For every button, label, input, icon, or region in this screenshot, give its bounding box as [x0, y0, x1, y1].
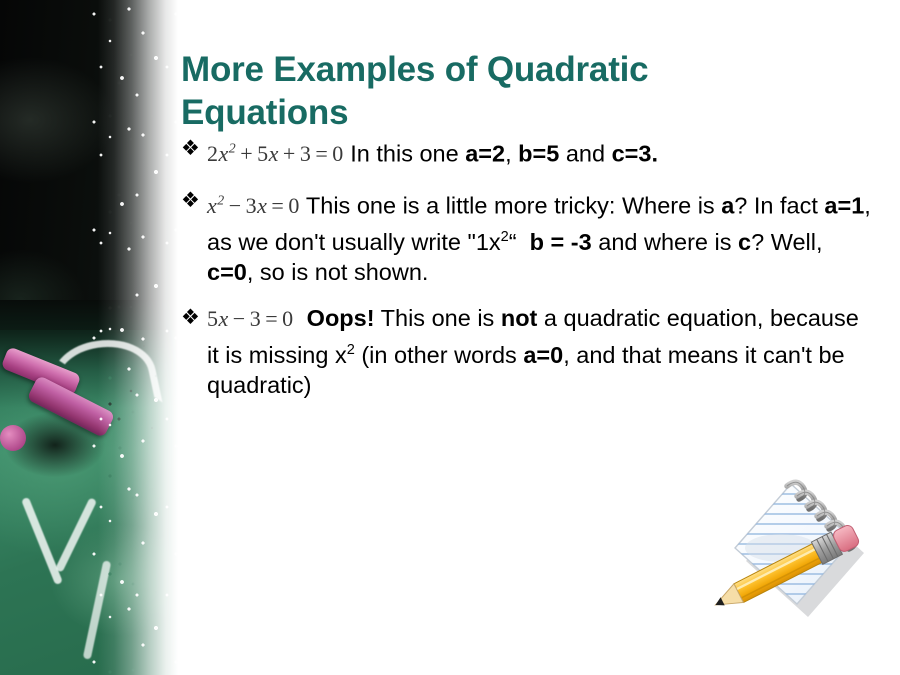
slide-canvas: More Examples of Quadratic Equations ❖ 2…: [0, 0, 900, 675]
bullet-2-content: x2−3x=0 This one is a little more tricky…: [207, 186, 871, 288]
bullet-2-c-value: c=0: [207, 259, 247, 285]
bullet-2-a-value: a=1: [824, 192, 864, 218]
bullet-1-text-2: ,: [505, 140, 518, 166]
bullet-1-content: 2x2+5x+3=0 In this one a=2, b=5 and c=3.: [207, 134, 871, 170]
page-title: More Examples of Quadratic Equations: [181, 48, 781, 134]
bullet-2-a-label: a: [721, 192, 734, 218]
bullet-3-oops: Oops!: [307, 305, 375, 331]
bullet-2-text-7: , so is not shown.: [247, 259, 429, 285]
notepad-pencil-clipart: [663, 470, 878, 650]
bullet-1-c-value: c=3.: [612, 140, 658, 166]
bullet-1-text-1: In this one: [344, 140, 466, 166]
list-item: ❖ x2−3x=0 This one is a little more tric…: [181, 186, 871, 288]
equation-2: x2−3x=0: [207, 193, 300, 218]
bullet-3-a-value: a=0: [523, 342, 563, 368]
list-item: ❖ 5x−3=0 Oops! This one is not a quadrat…: [181, 303, 871, 400]
chalkboard-photo: [0, 0, 178, 675]
bullet-3-not: not: [501, 305, 538, 331]
bullet-1-text-3: and: [559, 140, 611, 166]
list-item: ❖ 2x2+5x+3=0 In this one a=2, b=5 and c=…: [181, 134, 871, 170]
equation-1: 2x2+5x+3=0: [207, 141, 344, 166]
bullet-1-b-value: b=5: [518, 140, 559, 166]
diamond-bullet-icon: ❖: [181, 303, 207, 333]
bullet-2-b-value: b = -3: [530, 228, 592, 254]
bullet-3-text-0: [294, 305, 307, 331]
bullet-2-text-4: “: [509, 228, 530, 254]
bullet-2-superscript: 2: [501, 229, 509, 245]
bullet-3-text-2: This one is: [375, 305, 501, 331]
notepad-pencil-svg: [663, 470, 878, 650]
bullet-2-text-5: and where is: [592, 228, 738, 254]
bullet-2-text-2: ? In fact: [734, 192, 824, 218]
bullet-list: ❖ 2x2+5x+3=0 In this one a=2, b=5 and c=…: [181, 134, 871, 417]
bullet-2-text-1: This one is a little more tricky: Where …: [300, 192, 721, 218]
bullet-3-text-4: (in other words: [355, 342, 523, 368]
bullet-1-a-value: a=2: [465, 140, 505, 166]
chalkboard-dust-speckle: [88, 0, 178, 675]
diamond-bullet-icon: ❖: [181, 134, 207, 164]
bullet-2-c-label: c: [738, 228, 751, 254]
equation-3: 5x−3=0: [207, 306, 294, 331]
bullet-2-text-6: ? Well,: [751, 228, 822, 254]
diamond-bullet-icon: ❖: [181, 186, 207, 216]
bullet-3-superscript: 2: [347, 342, 355, 358]
bullet-3-content: 5x−3=0 Oops! This one is not a quadratic…: [207, 303, 871, 400]
